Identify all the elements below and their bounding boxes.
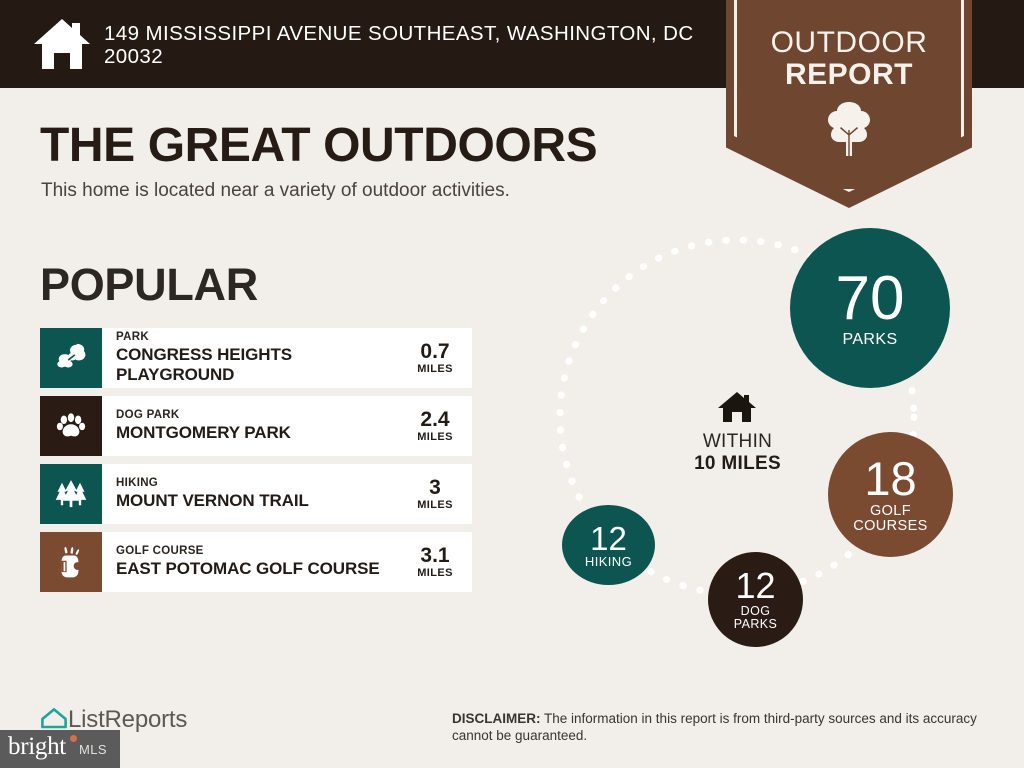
- bubble-value: 18: [864, 455, 916, 502]
- badge-title-line1: OUTDOOR: [726, 26, 972, 60]
- home-icon: [717, 390, 757, 424]
- golf-bag-icon: [40, 532, 102, 592]
- list-item-name: MONTGOMERY PARK: [116, 423, 404, 443]
- bubble-label-line2: PARKS: [734, 618, 777, 631]
- distance-value: 0.7: [404, 341, 466, 363]
- list-item-text: PARK CONGRESS HEIGHTS PLAYGROUND: [102, 331, 404, 385]
- bubble-value: 12: [590, 522, 627, 555]
- bubble-hiking[interactable]: 12 HIKING: [562, 505, 655, 585]
- list-item-name: MOUNT VERNON TRAIL: [116, 491, 404, 511]
- list-item[interactable]: GOLF COURSE EAST POTOMAC GOLF COURSE 3.1…: [40, 532, 472, 592]
- chart-center-line2: 10 MILES: [660, 453, 815, 475]
- list-item-distance: 0.7 MILES: [404, 341, 472, 375]
- list-item-distance: 2.4 MILES: [404, 409, 472, 443]
- bubble-label: PARKS: [842, 332, 897, 349]
- pine-trees-icon: [40, 464, 102, 524]
- list-item-text: HIKING MOUNT VERNON TRAIL: [102, 477, 404, 511]
- listreports-house-icon: [40, 706, 68, 730]
- list-item-distance: 3 MILES: [404, 477, 472, 511]
- distance-unit: MILES: [404, 499, 466, 511]
- distance-unit: MILES: [404, 431, 466, 443]
- watermark-brand: bright: [8, 733, 66, 761]
- list-item-text: DOG PARK MONTGOMERY PARK: [102, 409, 404, 443]
- chart-center-line1: WITHIN: [660, 431, 815, 453]
- page-subtitle: This home is located near a variety of o…: [41, 180, 510, 202]
- watermark-dot-icon: [70, 735, 77, 742]
- popular-heading: POPULAR: [40, 259, 258, 311]
- distance-value: 3: [404, 477, 466, 499]
- list-item-category: GOLF COURSE: [116, 545, 404, 558]
- list-item[interactable]: DOG PARK MONTGOMERY PARK 2.4 MILES: [40, 396, 472, 456]
- home-icon: [33, 16, 91, 72]
- list-item-distance: 3.1 MILES: [404, 545, 472, 579]
- bubble-value: 70: [836, 268, 905, 330]
- property-address: 149 Mississippi Avenue Southeast, Washin…: [104, 22, 714, 68]
- list-item-category: HIKING: [116, 477, 404, 490]
- bubble-label-line1: GOLF: [870, 504, 911, 519]
- list-item-text: GOLF COURSE EAST POTOMAC GOLF COURSE: [102, 545, 404, 579]
- page-title: THE GREAT OUTDOORS: [40, 118, 597, 173]
- disclaimer: DISCLAIMER: The information in this repo…: [452, 710, 1014, 744]
- bubble-parks[interactable]: 70 PARKS: [790, 228, 950, 388]
- within-10-miles-chart: 70 PARKS 18 GOLF COURSES 12 DOG PARKS 12…: [530, 222, 1000, 662]
- badge-title-line2: REPORT: [726, 58, 972, 92]
- distance-value: 3.1: [404, 545, 466, 567]
- bubble-label-line2: COURSES: [853, 519, 928, 534]
- list-item-name: CONGRESS HEIGHTS PLAYGROUND: [116, 345, 404, 385]
- bubble-label: HIKING: [585, 555, 632, 569]
- bubble-dog-parks[interactable]: 12 DOG PARKS: [708, 552, 803, 647]
- distance-unit: MILES: [404, 363, 466, 375]
- paw-print-icon: [40, 396, 102, 456]
- distance-unit: MILES: [404, 567, 466, 579]
- list-item[interactable]: HIKING MOUNT VERNON TRAIL 3 MILES: [40, 464, 472, 524]
- distance-value: 2.4: [404, 409, 466, 431]
- list-item-category: PARK: [116, 331, 404, 344]
- list-item[interactable]: PARK CONGRESS HEIGHTS PLAYGROUND 0.7 MIL…: [40, 328, 472, 388]
- list-item-name: EAST POTOMAC GOLF COURSE: [116, 559, 404, 579]
- tree-icon: [824, 100, 874, 156]
- list-item-category: DOG PARK: [116, 409, 404, 422]
- popular-list: PARK CONGRESS HEIGHTS PLAYGROUND 0.7 MIL…: [40, 328, 472, 600]
- bubble-value: 12: [735, 568, 775, 604]
- watermark-suffix: MLS: [79, 742, 107, 757]
- park-tree-icon: [40, 328, 102, 388]
- disclaimer-label: DISCLAIMER:: [452, 711, 541, 726]
- bubble-golf-courses[interactable]: 18 GOLF COURSES: [828, 432, 953, 557]
